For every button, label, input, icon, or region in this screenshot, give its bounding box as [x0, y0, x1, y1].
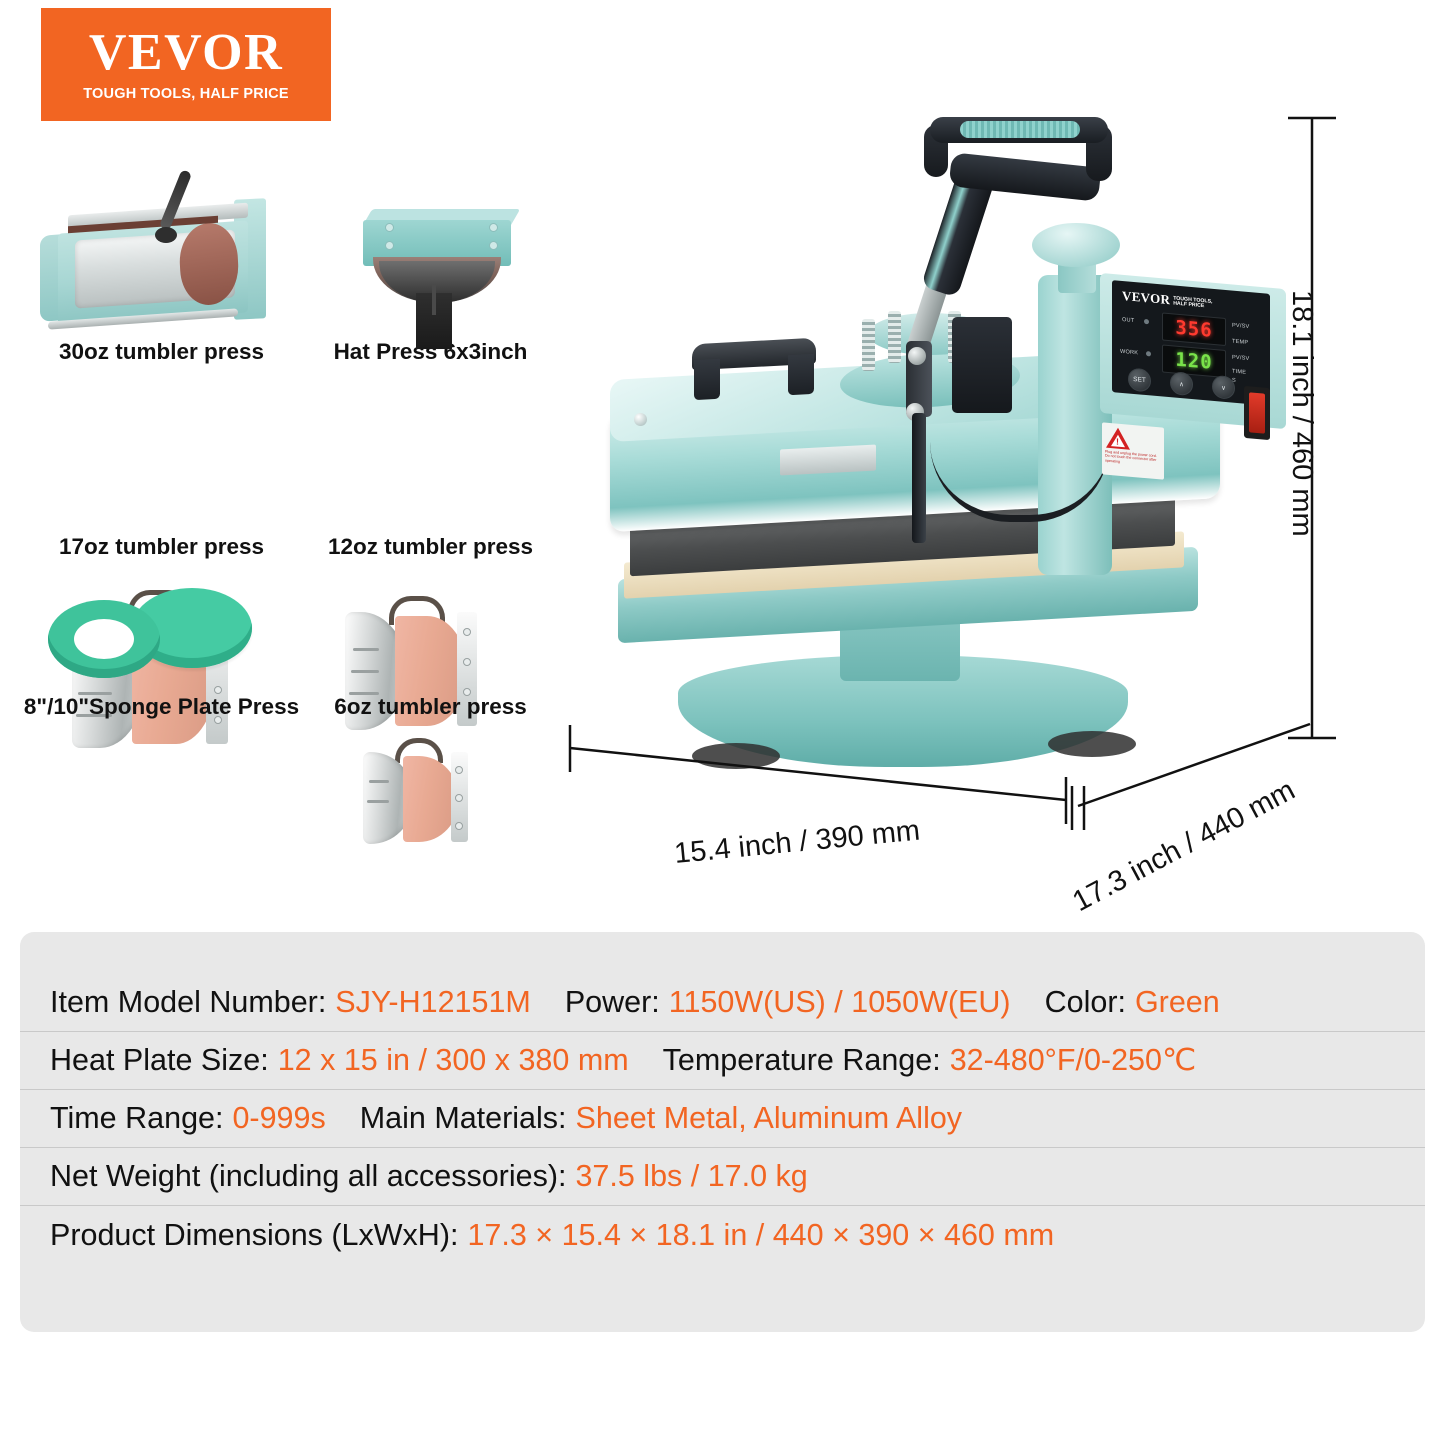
accessory-gallery: 30oz tumbler press Hat Press 6x3inch — [20, 165, 580, 720]
power-switch-rocker — [1249, 392, 1265, 433]
panel-work-label: WORK — [1120, 349, 1138, 357]
spec-value: 37.5 lbs / 17.0 kg — [575, 1159, 807, 1194]
press-center-shaft — [912, 413, 926, 543]
spec-label: Time Range: — [50, 1101, 223, 1136]
depth-dimension-label: 17.3 inch / 440 mm — [1068, 774, 1301, 919]
press-spec-plate — [780, 444, 876, 475]
panel-out-indicator — [1144, 319, 1149, 324]
sponge-plate-press-image — [20, 560, 303, 692]
panel-work-indicator — [1146, 351, 1151, 356]
platen-screw-front-left — [634, 413, 647, 426]
spec-value: SJY-H12151M — [335, 985, 531, 1020]
pressure-adjustment-knob[interactable] — [1032, 223, 1120, 267]
warning-exclamation: ! — [1116, 437, 1119, 447]
accessory-item-sponge-plate-press: 8"/10"Sponge Plate Press — [20, 560, 303, 720]
hat-press-image — [303, 165, 558, 337]
spec-label: Item Model Number: — [50, 985, 326, 1020]
logo-wordmark: VEVOR — [89, 27, 283, 79]
spec-value: 12 x 15 in / 300 x 380 mm — [278, 1043, 629, 1078]
press-foot-right — [1048, 731, 1136, 757]
spec-row: Time Range: 0-999s Main Materials: Sheet… — [20, 1090, 1425, 1148]
spec-row: Item Model Number: SJY-H12151M Power: 11… — [20, 974, 1425, 1032]
time-display: 120 — [1162, 344, 1226, 378]
power-switch[interactable] — [1244, 386, 1270, 440]
accessory-item-hat-press: Hat Press 6x3inch — [303, 165, 558, 365]
spec-row: Product Dimensions (LxWxH): 17.3 × 15.4 … — [20, 1206, 1425, 1264]
spec-row: Net Weight (including all accessories): … — [20, 1148, 1425, 1206]
panel-time-label: TIME — [1232, 369, 1246, 376]
platen-handle-left[interactable] — [692, 338, 816, 370]
pressure-spring-1 — [862, 319, 875, 371]
temperature-display: 356 — [1162, 312, 1226, 346]
spec-value: 0-999s — [232, 1101, 325, 1136]
panel-pvsv-top-label: PV/SV — [1232, 323, 1249, 331]
spec-value: 32-480°F/0-250℃ — [950, 1043, 1197, 1078]
accessory-label: 17oz tumbler press — [59, 534, 264, 560]
spec-row: Heat Plate Size: 12 x 15 in / 300 x 380 … — [20, 1032, 1425, 1090]
panel-brand-logo: VEVORTOUGH TOOLS,HALF PRICE — [1122, 288, 1212, 312]
height-dimension-label: 18.1 inch / 460 mm — [1285, 290, 1318, 537]
panel-out-label: OUT — [1122, 317, 1134, 324]
spec-value: Sheet Metal, Aluminum Alloy — [576, 1101, 963, 1136]
accessory-item-17oz-tumbler-press: 17oz tumbler press — [20, 365, 303, 560]
spec-label: Power: — [565, 985, 660, 1020]
spec-label: Main Materials: — [360, 1101, 567, 1136]
spec-value: Green — [1135, 985, 1220, 1020]
spec-label: Heat Plate Size: — [50, 1043, 269, 1078]
press-foot-left — [692, 743, 780, 769]
accessory-item-30oz-tumbler-press: 30oz tumbler press — [20, 165, 303, 365]
panel-temp-label: TEMP — [1232, 339, 1248, 346]
panel-pvsv-bottom-label: PV/SV — [1232, 355, 1249, 363]
spec-label: Net Weight (including all accessories): — [50, 1159, 566, 1194]
set-button[interactable]: SET — [1128, 367, 1151, 392]
width-dimension-label: 15.4 inch / 390 mm — [673, 815, 922, 871]
accessory-label: 12oz tumbler press — [328, 534, 533, 560]
specifications-table: Item Model Number: SJY-H12151M Power: 11… — [20, 932, 1425, 1332]
pressure-spring-2 — [888, 311, 901, 363]
heat-press-product-image: VEVORTOUGH TOOLS,HALF PRICE OUT 356 PV/S… — [600, 95, 1300, 795]
accessory-item-12oz-tumbler-press: 12oz tumbler press — [303, 365, 558, 560]
warning-text: Plug and unplug the power cord. Do not t… — [1105, 450, 1161, 468]
spec-label: Temperature Range: — [663, 1043, 941, 1078]
tumbler-press-30oz-image — [20, 165, 303, 337]
accessory-label: 30oz tumbler press — [59, 339, 264, 365]
warning-label: ! Plug and unplug the power cord. Do not… — [1102, 422, 1164, 479]
accessory-item-6oz-tumbler-press: 6oz tumbler press — [303, 560, 558, 720]
panel-brand-text: VEVOR — [1122, 288, 1170, 307]
spec-value: 1150W(US) / 1050W(EU) — [669, 985, 1011, 1020]
vevor-logo: VEVOR TOUGH TOOLS, HALF PRICE — [41, 8, 331, 121]
handle-grip-sleeve[interactable] — [960, 121, 1080, 138]
spec-value: 17.3 × 15.4 × 18.1 in / 440 × 390 × 460 … — [467, 1218, 1054, 1253]
spec-label: Color: — [1045, 985, 1126, 1020]
accessory-label: 8"/10"Sponge Plate Press — [24, 694, 299, 720]
accessory-label: 6oz tumbler press — [334, 694, 527, 720]
logo-tagline: TOUGH TOOLS, HALF PRICE — [83, 86, 288, 102]
spec-label: Product Dimensions (LxWxH): — [50, 1218, 458, 1253]
lever-mount-block — [952, 317, 1012, 413]
lever-pivot-pin-upper — [908, 347, 926, 365]
